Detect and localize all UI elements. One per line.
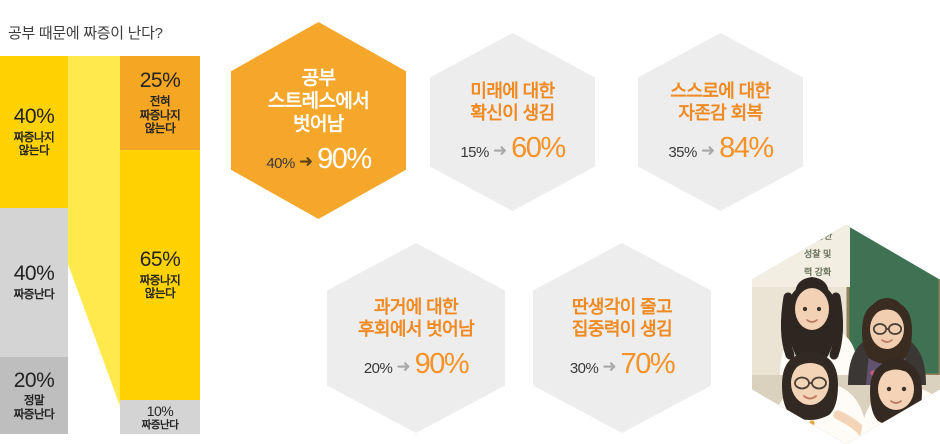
group-photo-hexagon: …을 통한 성찰 및 력 강화 bbox=[752, 225, 940, 444]
hexagon-title-line2: 자존감 회복 bbox=[678, 103, 762, 125]
hexagon-self-esteem[interactable]: 스스로에 대한 자존감 회복 35% ➜ 84% bbox=[638, 33, 803, 211]
hexagon-title-line2: 확신이 생김 bbox=[470, 103, 554, 125]
hexagon-title-line2: 집중력이 생김 bbox=[572, 319, 672, 341]
hexagon-study-stress[interactable]: 공부 스트레스에서 벗어남 40% ➜ 90% bbox=[231, 22, 406, 219]
hexagon-past-regret[interactable]: 과거에 대한 후회에서 벗어남 20% ➜ 90% bbox=[327, 243, 505, 433]
infographic-canvas: 공부 때문에 짜증이 난다? 40% 짜증나지 않는다 40% 짜증난다 20%… bbox=[0, 0, 940, 444]
stat-before-value: 40% bbox=[266, 155, 295, 172]
left-bar-segment-1: 40% 짜증나지 않는다 bbox=[0, 56, 68, 208]
hexagon-concentration[interactable]: 딴생각이 줄고 집중력이 생김 30% ➜ 70% bbox=[533, 243, 711, 433]
segment-label-line2: 짜증난다 bbox=[14, 409, 55, 423]
segment-percent: 20% bbox=[14, 369, 55, 394]
stat-after-value: 70% bbox=[621, 350, 675, 379]
hexagon-title-line2: 스트레스에서 bbox=[268, 90, 369, 113]
segment-label-line1: 전혀 bbox=[150, 96, 170, 110]
group-photo-illustration: …을 통한 성찰 및 력 강화 bbox=[752, 225, 940, 444]
stat-before-value: 20% bbox=[364, 360, 393, 377]
arrow-right-icon: ➜ bbox=[492, 142, 508, 159]
segment-label-line1: 짜증나지 bbox=[14, 132, 55, 146]
segment-label-line1: 짜증난다 bbox=[141, 419, 178, 431]
right-bar-segment-1: 25% 전혀 짜증나지 않는다 bbox=[120, 56, 200, 150]
segment-label-line2: 않는다 bbox=[145, 288, 176, 302]
hexagon-title-line1: 과거에 대한 bbox=[374, 297, 458, 319]
arrow-right-icon: ➜ bbox=[700, 142, 716, 159]
hexagon-stat: 15% ➜ 60% bbox=[460, 134, 564, 163]
hexagon-title-line1: 스스로에 대한 bbox=[670, 81, 770, 103]
stat-before-value: 30% bbox=[570, 360, 599, 377]
stat-after-value: 90% bbox=[415, 350, 469, 379]
hexagon-title-line3: 벗어남 bbox=[293, 113, 344, 136]
arrow-right-icon: ➜ bbox=[298, 153, 314, 170]
hexagon-stat: 30% ➜ 70% bbox=[570, 350, 674, 379]
segment-label-line3: 않는다 bbox=[145, 123, 176, 137]
hexagon-title-line2: 후회에서 벗어남 bbox=[358, 319, 474, 341]
segment-label-line2: 짜증나지 bbox=[140, 110, 181, 124]
segment-percent: 25% bbox=[140, 69, 181, 94]
right-bar-segment-2: 65% 짜증나지 않는다 bbox=[120, 150, 200, 400]
hexagon-title-line1: 미래에 대한 bbox=[470, 81, 554, 103]
right-bar-segment-3: 10% 짜증난다 bbox=[120, 400, 200, 434]
hexagon-future-confidence[interactable]: 미래에 대한 확신이 생김 15% ➜ 60% bbox=[430, 33, 595, 211]
segment-label-line1: 짜증난다 bbox=[14, 289, 55, 303]
segment-label-line1: 정말 bbox=[24, 395, 44, 409]
left-bar-segment-2: 40% 짜증난다 bbox=[0, 208, 68, 357]
stat-after-value: 60% bbox=[511, 134, 565, 163]
hexagon-title-line1: 딴생각이 줄고 bbox=[572, 297, 672, 319]
stat-after-value: 84% bbox=[719, 134, 773, 163]
chart-title: 공부 때문에 짜증이 난다? bbox=[8, 22, 163, 43]
stat-before-value: 35% bbox=[668, 144, 697, 161]
segment-label-line1: 짜증나지 bbox=[140, 275, 181, 289]
hexagon-title-line1: 공부 bbox=[302, 67, 336, 90]
arrow-right-icon: ➜ bbox=[395, 358, 411, 375]
segment-label-line2: 않는다 bbox=[19, 145, 50, 159]
hexagon-stat: 40% ➜ 90% bbox=[266, 145, 370, 174]
stat-after-value: 90% bbox=[317, 145, 371, 174]
hexagon-stat: 35% ➜ 84% bbox=[668, 134, 772, 163]
stat-before-value: 15% bbox=[460, 144, 489, 161]
hexagon-stat: 20% ➜ 90% bbox=[364, 350, 468, 379]
segment-percent: 10% bbox=[147, 403, 174, 420]
left-bar-segment-3: 20% 정말 짜증난다 bbox=[0, 357, 68, 434]
segment-percent: 65% bbox=[140, 248, 181, 273]
arrow-right-icon: ➜ bbox=[601, 358, 617, 375]
segment-percent: 40% bbox=[14, 105, 55, 130]
segment-percent: 40% bbox=[14, 262, 55, 287]
